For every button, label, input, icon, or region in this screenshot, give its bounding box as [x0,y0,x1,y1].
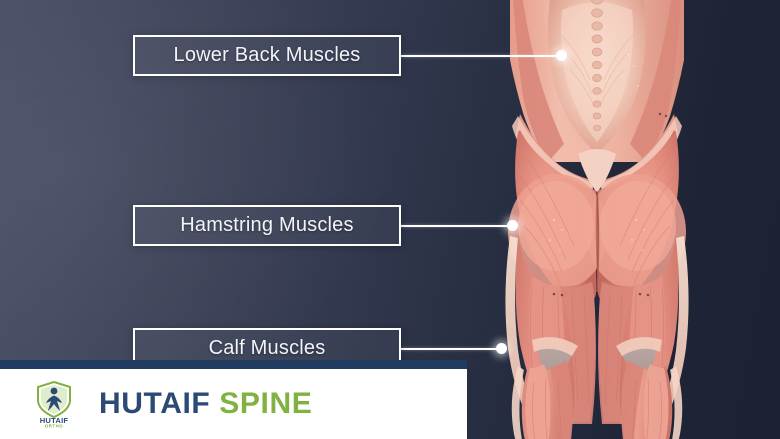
brand-name-primary: HUTAIF [99,387,210,420]
leader-line-icon-hamstring [401,225,512,227]
callout-label-text: Hamstring Muscles [180,214,353,237]
leader-dot-icon-calf [496,343,507,354]
callout-label-text: Calf Muscles [209,337,326,360]
leader-line-icon-calf [401,348,501,350]
brand-name-accent: SPINE [219,387,312,420]
leader-dot-icon-hamstring [507,220,518,231]
leader-line-icon-lower-back [401,55,561,57]
leader-dot-icon-lower-back [556,50,567,61]
callout-label-text: Lower Back Muscles [174,44,361,67]
hutaif-ortho-shield-logo-icon: HUTAIF ORTHO [31,380,77,428]
posterior-lower-body-muscles-illustration [432,0,762,439]
callout-label-hamstring[interactable]: Hamstring Muscles [133,205,401,246]
callout-label-lower-back[interactable]: Lower Back Muscles [133,35,401,76]
slide-canvas: Lower Back Muscles Hamstring Muscles Cal… [0,0,780,439]
footer-brand-panel: HUTAIF ORTHO HUTAIF SPINE [0,369,467,439]
brand-wordmark: HUTAIF SPINE [99,389,312,419]
footer-accent-bar [0,360,467,369]
svg-text:ORTHO: ORTHO [45,424,63,428]
